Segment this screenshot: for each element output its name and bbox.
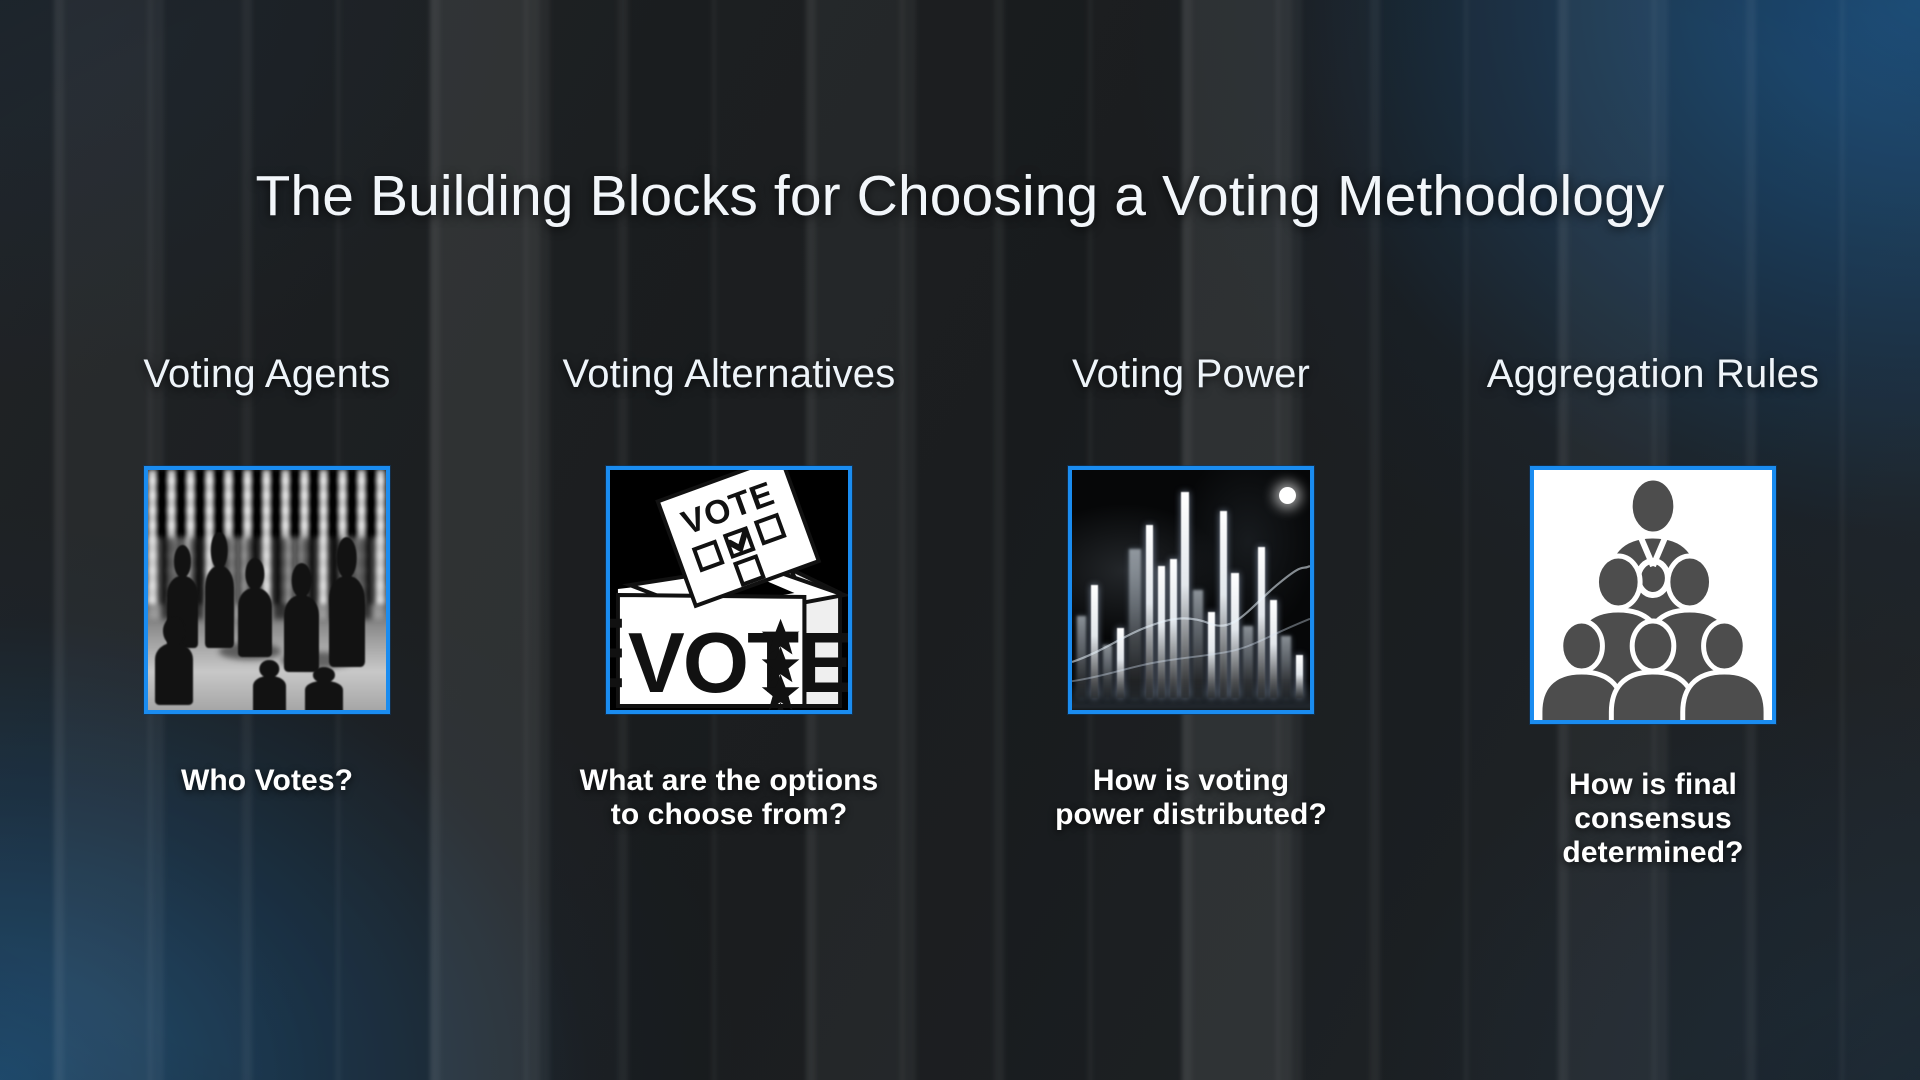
column-voting-agents: Voting Agents <box>36 348 498 871</box>
people-pyramid-content <box>1534 470 1772 720</box>
image-wrap-voting-agents <box>36 466 498 714</box>
column-heading-voting-power: Voting Power <box>960 348 1422 404</box>
chart-highlight-dot <box>1279 487 1296 504</box>
caption-line: determined? <box>1436 836 1870 870</box>
people-pyramid-svg <box>1534 470 1772 720</box>
bar-chart-photo <box>1068 466 1314 714</box>
caption-voting-agents: Who Votes? <box>36 764 498 798</box>
caption-line: How is voting <box>974 764 1408 798</box>
crowd-figure <box>284 595 320 672</box>
column-heading-aggregation-rules: Aggregation Rules <box>1422 348 1884 404</box>
caption-line: power distributed? <box>974 798 1408 832</box>
crowd-figure <box>205 566 234 648</box>
caption-aggregation-rules: How is final consensus determined? <box>1422 768 1884 871</box>
chart-baseline <box>1072 681 1310 710</box>
bar-chart-content <box>1072 470 1310 710</box>
caption-line: How is final <box>1436 768 1870 802</box>
caption-line: consensus <box>1436 802 1870 836</box>
crowd-figure <box>238 588 271 658</box>
crowd-figure <box>329 576 365 667</box>
image-wrap-voting-alternatives: VOTE VOTE <box>498 466 960 714</box>
column-voting-alternatives: Voting Alternatives <box>498 348 960 871</box>
people-pyramid-icon <box>1530 466 1776 724</box>
column-heading-voting-alternatives: Voting Alternatives <box>498 348 960 404</box>
slide-root: The Building Blocks for Choosing a Votin… <box>0 0 1920 1080</box>
column-heading-voting-agents: Voting Agents <box>36 348 498 404</box>
caption-voting-power: How is voting power distributed? <box>960 764 1422 832</box>
caption-voting-alternatives: What are the options to choose from? <box>498 764 960 832</box>
ballot-box-label: VOTE <box>628 616 848 710</box>
crowd-figure <box>155 643 193 705</box>
ballot-box-svg: VOTE VOTE <box>610 470 848 710</box>
chart-trend-lines <box>1072 470 1310 710</box>
image-wrap-aggregation-rules <box>1422 466 1884 724</box>
column-aggregation-rules: Aggregation Rules <box>1422 348 1884 871</box>
crowd-photo <box>144 466 390 714</box>
building-blocks-grid: Voting Agents <box>0 348 1920 871</box>
crowd-figure <box>253 676 286 710</box>
crowd-figure <box>305 681 343 710</box>
ballot-box-vote-icon: VOTE VOTE <box>606 466 852 714</box>
slide-title: The Building Blocks for Choosing a Votin… <box>0 166 1920 226</box>
crowd-photo-content <box>148 470 386 710</box>
caption-line: to choose from? <box>512 798 946 832</box>
column-voting-power: Voting Power <box>960 348 1422 871</box>
ballot-box-content: VOTE VOTE <box>610 470 848 710</box>
image-wrap-voting-power <box>960 466 1422 714</box>
caption-line: What are the options <box>512 764 946 798</box>
